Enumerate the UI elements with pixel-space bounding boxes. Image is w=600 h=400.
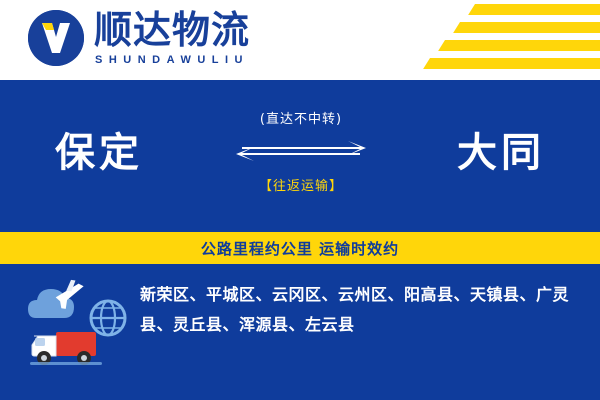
direct-note: (直达不中转) xyxy=(236,108,366,127)
logo-text: 顺达物流 SHUNDAWULIU xyxy=(94,10,250,66)
double-arrow-icon xyxy=(236,137,366,165)
route-row: 保定 (直达不中转) 【往返运输】 大同 xyxy=(0,80,600,232)
logo-english-name: SHUNDAWULIU xyxy=(94,54,250,66)
distance-duration-text: 公路里程约公里 运输时效约 xyxy=(201,238,399,259)
route-section: 保定 (直达不中转) 【往返运输】 大同 xyxy=(0,80,600,232)
logo: 顺达物流 SHUNDAWULIU xyxy=(28,10,250,66)
route-middle: (直达不中转) 【往返运输】 xyxy=(236,108,366,194)
truck-plane-globe-icon xyxy=(22,278,132,378)
origin-city: 保定 xyxy=(55,120,143,178)
poster: 顺达物流 SHUNDAWULIU 保定 (直达不中转) 【往返运输】 大同 xyxy=(0,0,600,400)
destination-city: 大同 xyxy=(457,120,545,178)
roundtrip-note: 【往返运输】 xyxy=(236,175,366,194)
coverage-section: 新荣区、平城区、云冈区、云州区、阳高县、天镇县、广灵县、灵丘县、浑源县、左云县 xyxy=(0,264,600,400)
decorative-stripes xyxy=(350,0,600,80)
info-band: 公路里程约公里 运输时效约 xyxy=(0,232,600,264)
logo-chinese-name: 顺达物流 xyxy=(94,10,250,50)
circle-arrow-logo-icon xyxy=(28,10,84,66)
header: 顺达物流 SHUNDAWULIU xyxy=(0,0,600,80)
coverage-areas-text: 新荣区、平城区、云冈区、云州区、阳高县、天镇县、广灵县、灵丘县、浑源县、左云县 xyxy=(140,280,578,340)
